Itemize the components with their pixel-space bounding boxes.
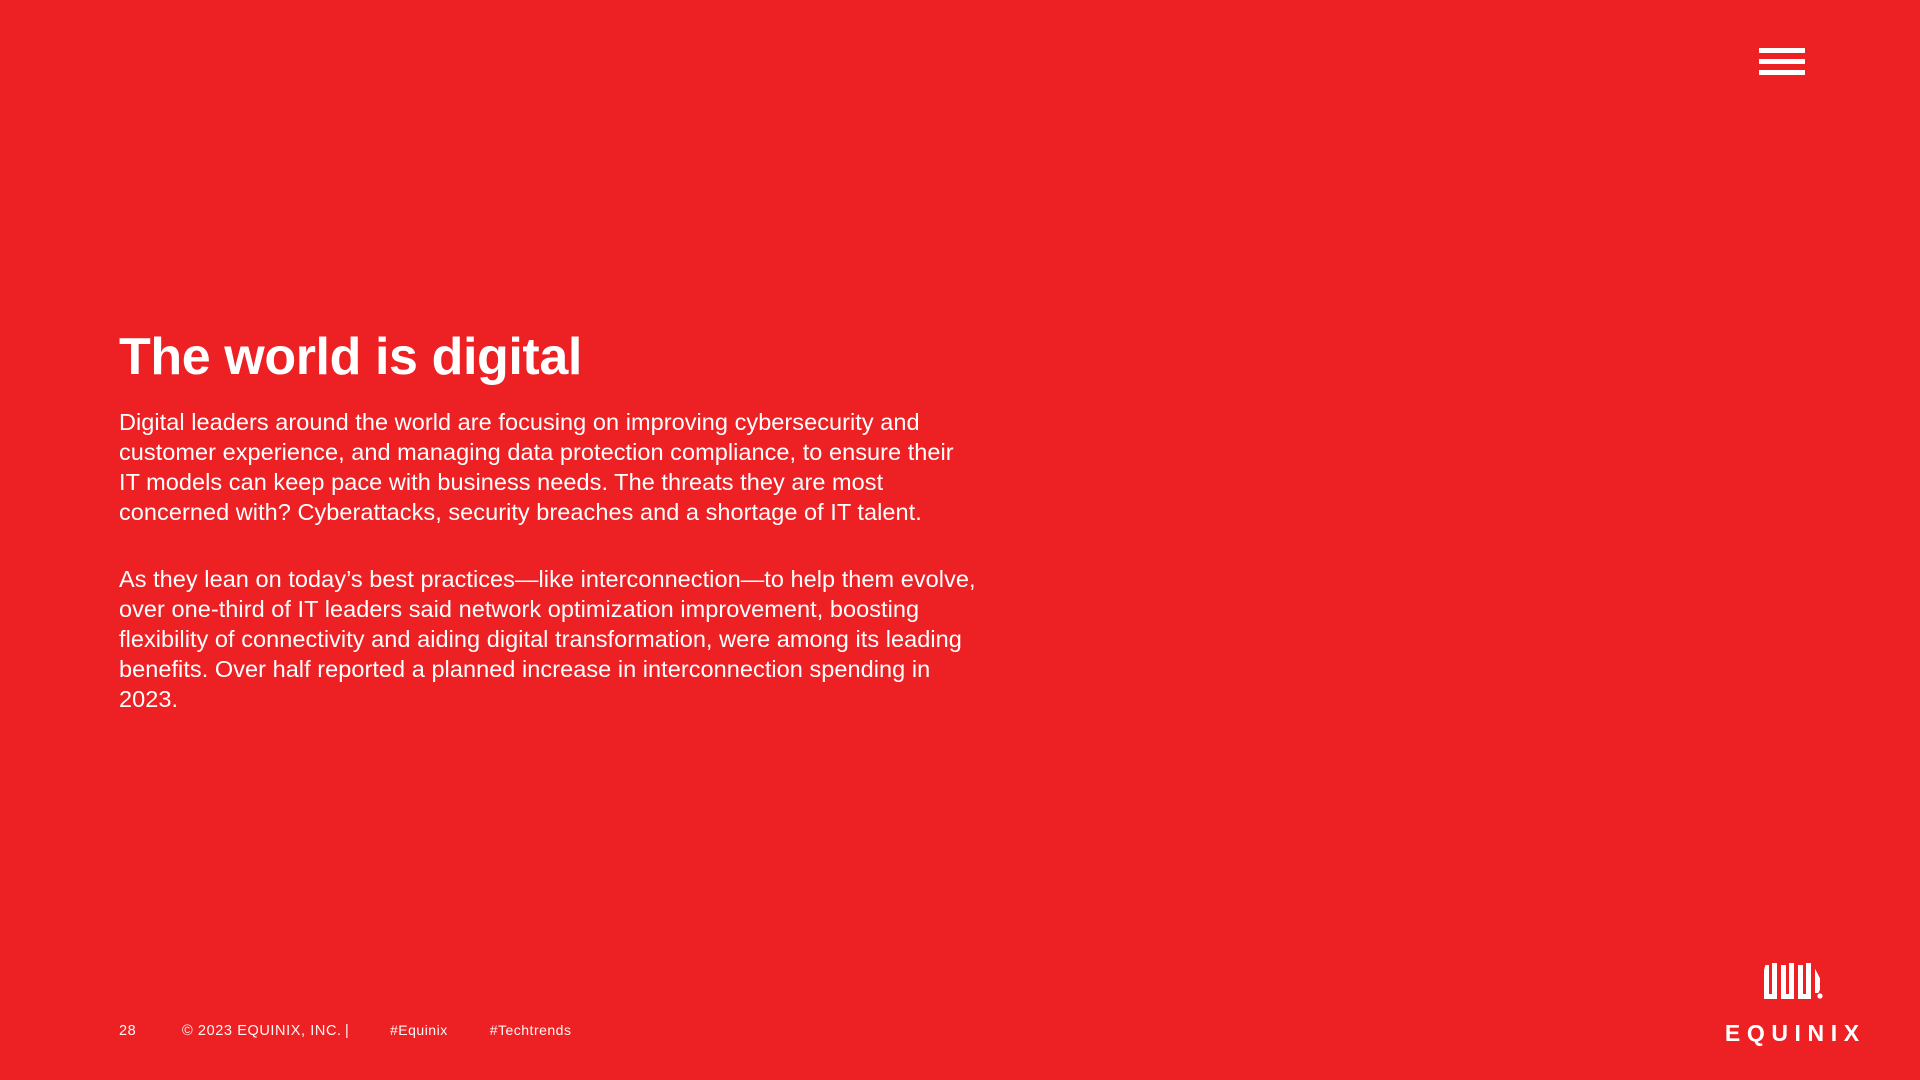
page-number: 28	[119, 1023, 182, 1039]
footer-meta: 28 © 2023 EQUINIX, INC. | #Equinix #Tech…	[119, 1022, 571, 1039]
page-title: The world is digital	[119, 330, 1019, 385]
slide-root: The world is digital Digital leaders aro…	[0, 0, 1920, 1080]
footer-divider: |	[345, 1023, 390, 1039]
body-paragraph-1: Digital leaders around the world are foc…	[119, 407, 979, 527]
hamburger-menu-button[interactable]	[1759, 48, 1805, 75]
hashtag-techtrends[interactable]: #Techtrends	[490, 1022, 572, 1038]
body-paragraph-2: As they lean on today’s best practices—l…	[119, 564, 979, 714]
content-block: The world is digital Digital leaders aro…	[119, 330, 1019, 714]
equinix-logo: EQUINIX	[1716, 963, 1868, 1045]
footer: 28 © 2023 EQUINIX, INC. | #Equinix #Tech…	[119, 980, 1801, 1080]
hamburger-bar-top	[1759, 48, 1805, 53]
equinix-wordmark: EQUINIX	[1718, 1022, 1865, 1045]
hamburger-bar-bottom	[1759, 70, 1805, 75]
equinix-hexagon-mark	[1760, 963, 1824, 1010]
copyright-notice: © 2023 EQUINIX, INC.	[182, 1023, 345, 1039]
hamburger-bar-middle	[1759, 59, 1805, 64]
hashtag-equinix[interactable]: #Equinix	[390, 1022, 448, 1038]
